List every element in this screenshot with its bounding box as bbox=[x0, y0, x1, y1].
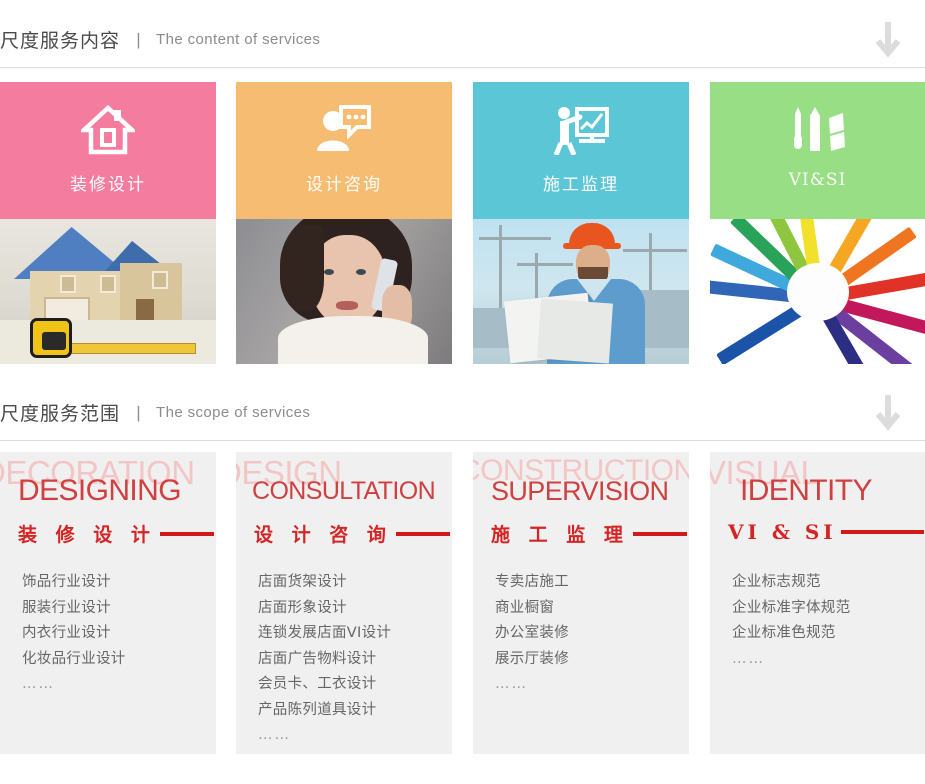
list-item[interactable]: 商业橱窗 bbox=[495, 596, 689, 622]
section2-separator: 丨 bbox=[130, 400, 147, 425]
list-item[interactable]: 服装行业设计 bbox=[22, 596, 216, 622]
card-label-visual-identity: VI&SI bbox=[789, 170, 847, 190]
title-rule bbox=[396, 532, 450, 536]
house-icon bbox=[81, 104, 135, 156]
list-item[interactable]: 企业标志规范 bbox=[732, 570, 925, 596]
list-item[interactable]: 店面形象设计 bbox=[258, 596, 452, 622]
scope-titles-supervision: CONSTRUCTION SUPERVISION 施 工 监 理 bbox=[473, 452, 689, 552]
list-item[interactable]: 办公室装修 bbox=[495, 621, 689, 647]
cn-title-visual-identity: VI & SI bbox=[728, 520, 837, 544]
list-item[interactable]: 店面货架设计 bbox=[258, 570, 452, 596]
title-rule bbox=[633, 532, 687, 536]
list-item[interactable]: 化妆品行业设计 bbox=[22, 647, 216, 673]
service-card-visual-identity[interactable]: VI&SI bbox=[710, 82, 925, 364]
section1-en-title: The content of services bbox=[156, 31, 320, 48]
section-header-scope: 尺度服务范围 丨 The scope of services bbox=[0, 385, 925, 441]
person-chat-icon bbox=[315, 104, 373, 156]
scope-column-supervision[interactable]: CONSTRUCTION SUPERVISION 施 工 监 理 专卖店施工 商… bbox=[473, 452, 689, 754]
en-title-consultation: CONSULTATION bbox=[252, 477, 435, 506]
card-label-decoration: 装修设计 bbox=[70, 170, 146, 195]
service-cards: 装修设计 bbox=[0, 82, 925, 364]
section1-cn-title: 尺度服务内容 bbox=[0, 26, 120, 53]
list-item[interactable]: 会员卡、工衣设计 bbox=[258, 672, 452, 698]
scope-column-visual-identity[interactable]: VISUAL IDENTITY VI & SI 企业标志规范 企业标准字体规范 … bbox=[710, 452, 925, 754]
scope-list-supervision: 专卖店施工 商业橱窗 办公室装修 展示厅装修 …… bbox=[495, 570, 689, 698]
card-photo-supervision bbox=[473, 219, 689, 364]
section1-separator: 丨 bbox=[130, 27, 147, 52]
en-title-supervision: SUPERVISION bbox=[491, 476, 668, 507]
scope-column-consultation[interactable]: DESIGN CONSULTATION 设 计 咨 询 店面货架设计 店面形象设… bbox=[236, 452, 452, 754]
cn-title-row-supervision: 施 工 监 理 bbox=[491, 520, 687, 547]
service-card-decoration[interactable]: 装修设计 bbox=[0, 82, 216, 364]
scope-titles-consultation: DESIGN CONSULTATION 设 计 咨 询 bbox=[236, 452, 452, 552]
card-top-visual-identity: VI&SI bbox=[710, 82, 925, 219]
section2-en-title: The scope of services bbox=[156, 404, 310, 421]
list-item-ellipsis: …… bbox=[258, 723, 452, 749]
list-item[interactable]: 专卖店施工 bbox=[495, 570, 689, 596]
service-card-consultation[interactable]: 设计咨询 bbox=[236, 82, 452, 364]
title-rule bbox=[160, 532, 214, 536]
list-item[interactable]: 饰品行业设计 bbox=[22, 570, 216, 596]
section-header-content: 尺度服务内容 丨 The content of services bbox=[0, 12, 925, 68]
list-item[interactable]: 展示厅装修 bbox=[495, 647, 689, 673]
section2-cn-title: 尺度服务范围 bbox=[0, 399, 120, 426]
cn-title-consultation: 设 计 咨 询 bbox=[254, 520, 392, 547]
card-photo-decoration bbox=[0, 219, 216, 364]
card-photo-consultation bbox=[236, 219, 452, 364]
service-card-supervision[interactable]: 施工监理 bbox=[473, 82, 689, 364]
card-label-supervision: 施工监理 bbox=[543, 170, 619, 195]
scope-titles-visual-identity: VISUAL IDENTITY VI & SI bbox=[710, 452, 925, 552]
card-label-consultation: 设计咨询 bbox=[306, 170, 382, 195]
service-page: 尺度服务内容 丨 The content of services 装修设计 bbox=[0, 0, 925, 784]
scope-list-designing: 饰品行业设计 服装行业设计 内衣行业设计 化妆品行业设计 …… bbox=[22, 570, 216, 698]
card-top-supervision: 施工监理 bbox=[473, 82, 689, 219]
cn-title-row-designing: 装 修 设 计 bbox=[18, 520, 214, 547]
list-item[interactable]: 企业标准色规范 bbox=[732, 621, 925, 647]
card-top-decoration: 装修设计 bbox=[0, 82, 216, 219]
scope-column-designing[interactable]: DECORATION DESIGNING 装 修 设 计 饰品行业设计 服装行业… bbox=[0, 452, 216, 754]
pen-pencil-eraser-icon bbox=[789, 104, 847, 156]
list-item-ellipsis: …… bbox=[22, 672, 216, 698]
presenter-chart-icon bbox=[553, 104, 609, 156]
scope-list-consultation: 店面货架设计 店面形象设计 连锁发展店面VI设计 店面广告物料设计 会员卡、工衣… bbox=[258, 570, 452, 749]
card-top-consultation: 设计咨询 bbox=[236, 82, 452, 219]
list-item[interactable]: 店面广告物料设计 bbox=[258, 647, 452, 673]
cn-title-row-visual-identity: VI & SI bbox=[728, 520, 924, 544]
scope-columns: DECORATION DESIGNING 装 修 设 计 饰品行业设计 服装行业… bbox=[0, 452, 925, 784]
arrow-down-icon bbox=[871, 20, 905, 58]
scope-titles-designing: DECORATION DESIGNING 装 修 设 计 bbox=[0, 452, 216, 552]
cn-title-row-consultation: 设 计 咨 询 bbox=[254, 520, 450, 547]
list-item[interactable]: 产品陈列道具设计 bbox=[258, 698, 452, 724]
list-item-ellipsis: …… bbox=[732, 647, 925, 673]
list-item-ellipsis: …… bbox=[495, 672, 689, 698]
title-rule bbox=[841, 530, 924, 534]
card-photo-visual-identity bbox=[710, 219, 925, 364]
list-item[interactable]: 企业标准字体规范 bbox=[732, 596, 925, 622]
list-item[interactable]: 连锁发展店面VI设计 bbox=[258, 621, 452, 647]
scope-list-visual-identity: 企业标志规范 企业标准字体规范 企业标准色规范 …… bbox=[732, 570, 925, 672]
cn-title-supervision: 施 工 监 理 bbox=[491, 520, 629, 547]
arrow-down-icon bbox=[871, 393, 905, 431]
list-item[interactable]: 内衣行业设计 bbox=[22, 621, 216, 647]
en-title-identity: IDENTITY bbox=[740, 474, 872, 508]
cn-title-designing: 装 修 设 计 bbox=[18, 520, 156, 547]
en-title-designing: DESIGNING bbox=[18, 474, 181, 508]
